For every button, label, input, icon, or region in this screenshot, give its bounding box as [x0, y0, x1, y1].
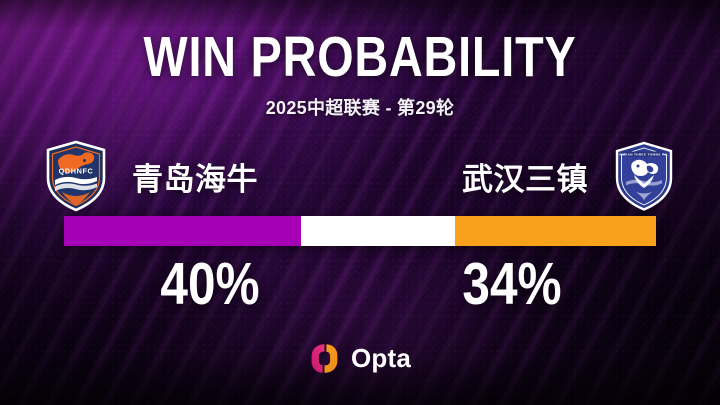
home-win-percentage: 40% [155, 258, 264, 310]
away-team: WUHAN THREE TOWNS F.C. 武汉三镇 [462, 140, 676, 212]
percentage-row: 40% 34% [0, 258, 720, 310]
bar-segment-away [455, 216, 656, 246]
opta-branding: Opta [0, 341, 720, 375]
home-team: QDHNFC 青岛海牛 [44, 140, 258, 212]
win-probability-bar [64, 216, 656, 246]
home-team-name: 青岛海牛 [132, 154, 258, 199]
opta-ring-icon [309, 343, 340, 374]
away-win-percentage: 34% [457, 258, 566, 310]
win-probability-graphic: WIN PROBABILITY 2025中超联赛 - 第29轮 QDHNFC [0, 0, 720, 405]
teams-row: QDHNFC 青岛海牛 WUHAN THREE TOWNS F.C. [0, 140, 720, 212]
bar-segment-home [64, 216, 301, 246]
page-subtitle: 2025中超联赛 - 第29轮 [0, 97, 720, 119]
opta-wordmark: Opta [351, 343, 411, 374]
qingdao-hainiu-crest-icon: QDHNFC [44, 140, 108, 212]
svg-text:WUHAN THREE TOWNS F.C.: WUHAN THREE TOWNS F.C. [619, 153, 669, 157]
away-team-name: 武汉三镇 [462, 154, 588, 199]
wuhan-three-towns-crest-icon: WUHAN THREE TOWNS F.C. [612, 140, 676, 212]
svg-text:QDHNFC: QDHNFC [59, 167, 94, 176]
bar-segment-draw [301, 216, 455, 246]
page-title: WIN PROBABILITY [65, 29, 655, 86]
